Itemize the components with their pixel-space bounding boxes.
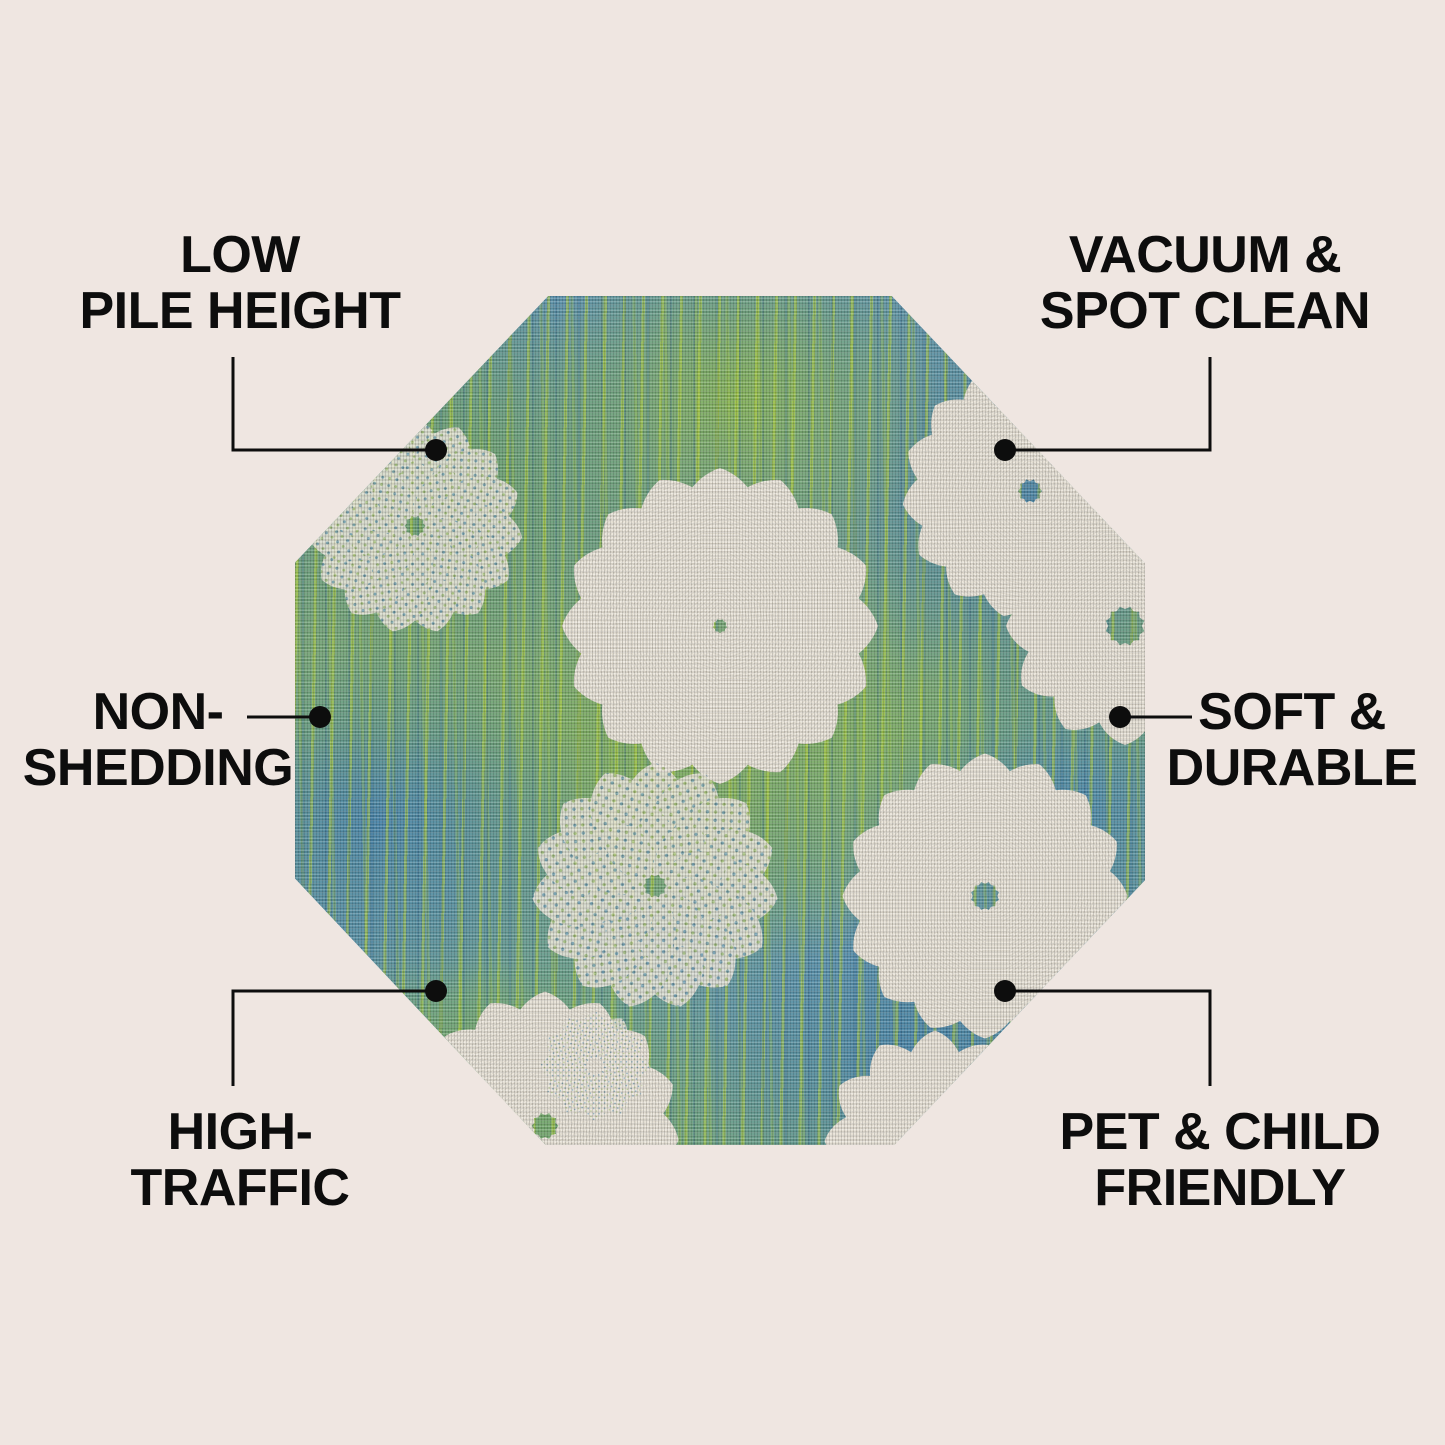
wire-pet-child-friendly xyxy=(1005,991,1210,1086)
product-rug-image xyxy=(295,296,1145,1145)
callout-label-pet-child-friendly: PET & CHILD FRIENDLY xyxy=(1020,1105,1420,1216)
wire-low-pile-height xyxy=(233,357,436,450)
rug-fiber-sheen xyxy=(295,296,1145,1145)
callout-label-high-traffic: HIGH- TRAFFIC xyxy=(75,1105,405,1216)
callout-label-soft-durable: SOFT & DURABLE xyxy=(1152,685,1432,796)
wire-vacuum-spot-clean xyxy=(1005,357,1210,450)
wire-high-traffic xyxy=(233,991,436,1086)
callout-label-low-pile-height: LOW PILE HEIGHT xyxy=(70,228,410,339)
callout-label-non-shedding: NON- SHEDDING xyxy=(18,685,298,796)
infographic-stage: LOW PILE HEIGHT VACUUM & SPOT CLEAN NON-… xyxy=(0,0,1445,1445)
callout-label-vacuum-spot-clean: VACUUM & SPOT CLEAN xyxy=(1035,228,1375,339)
